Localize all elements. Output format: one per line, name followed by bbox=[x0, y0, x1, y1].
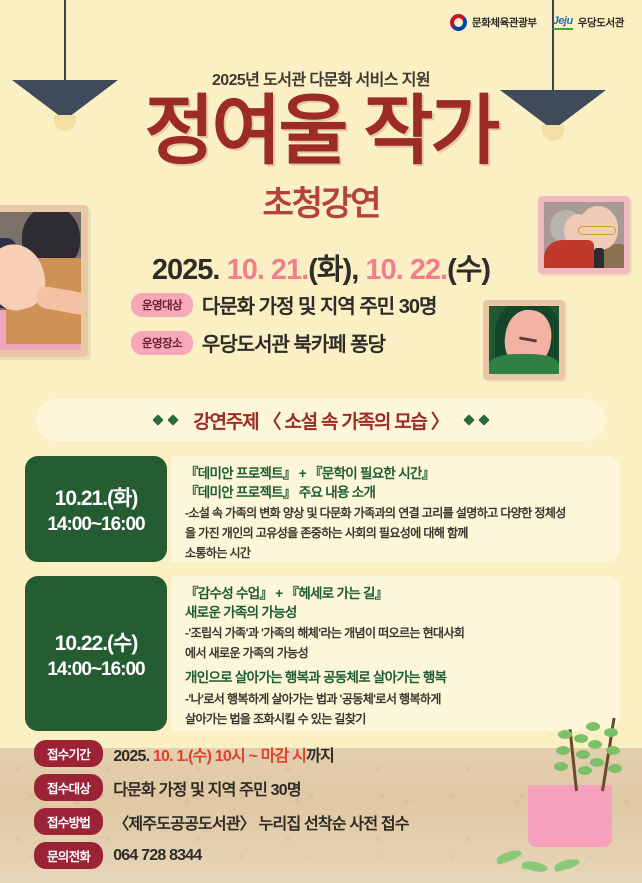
schedule-head3-day2: 개인으로 살아가는 행복과 공동체로 살아가는 행복 bbox=[185, 669, 606, 688]
schedule-head1-day2: 『감수성 수업』 + 『헤세로 가는 길』 bbox=[185, 585, 606, 604]
artwork-image bbox=[489, 306, 559, 374]
plant-pot bbox=[528, 785, 612, 847]
page-title: 정여울 작가 bbox=[0, 96, 642, 169]
taegeuk-icon bbox=[450, 14, 467, 31]
ministry-logo: 문화체육관광부 bbox=[450, 14, 537, 31]
schedule-body2-day1: 을 가진 개인의 고유성을 존중하는 사회의 필요성에 대해 함께 bbox=[185, 524, 606, 542]
badge-venue: 운영장소 bbox=[131, 331, 193, 355]
info-audience-text: 다문화 가정 및 지역 주민 30명 bbox=[202, 290, 436, 319]
schedule-time-day2: 14:00~16:00 bbox=[47, 659, 144, 681]
diamond-ornament-left-icon bbox=[154, 416, 177, 424]
footer-row-method: 접수방법 〈제주도공공도서관〉 누리집 선착순 사전 접수 bbox=[34, 808, 409, 835]
footer-phone-text: 064 728 8344 bbox=[113, 847, 201, 865]
schedule-head2-day2: 새로운 가족의 가능성 bbox=[185, 604, 606, 623]
event-dateline: 2025. 10. 21.(화), 10. 22.(수) bbox=[0, 246, 642, 288]
title-block: 2025년 도서관 다문화 서비스 지원 정여울 작가 bbox=[0, 66, 642, 169]
diamond-ornament-right-icon bbox=[465, 416, 488, 424]
library-logo: Jeju 우당도서관 bbox=[553, 15, 624, 30]
badge-application-period: 접수기간 bbox=[34, 740, 103, 767]
potted-plant-icon bbox=[484, 713, 634, 883]
info-venue-text: 우당도서관 북카페 퐁당 bbox=[202, 328, 385, 357]
schedule-row-day1: 10.21.(화) 14:00~16:00 『데미안 프로젝트』 + 『문학이 … bbox=[25, 456, 620, 562]
footer-period-text: 2025. 10. 1.(수) 10시 ~ 마감 시까지 bbox=[113, 742, 334, 766]
poster-subtitle: 초청강연 bbox=[0, 176, 642, 225]
application-info-rows: 접수기간 2025. 10. 1.(수) 10시 ~ 마감 시까지 접수대상 다… bbox=[34, 740, 409, 869]
info-row-venue: 운영장소 우당도서관 북카페 퐁당 bbox=[131, 328, 436, 357]
dateline-year: 2025. bbox=[152, 254, 220, 286]
dateline-date-2: 10. 22. bbox=[365, 254, 447, 286]
badge-application-target: 접수대상 bbox=[34, 774, 103, 801]
lecture-topic-banner: 강연주제 〈 소설 속 가족의 모습 〉 bbox=[36, 399, 606, 441]
poster-canvas: 문화체육관광부 Jeju 우당도서관 bbox=[0, 0, 642, 883]
badge-contact-phone: 문의전화 bbox=[34, 842, 103, 869]
schedule-head2-day1: 『데미안 프로젝트』 주요 내용 소개 bbox=[185, 484, 606, 503]
badge-application-method: 접수방법 bbox=[34, 808, 103, 835]
schedule-row-day2: 10.22.(수) 14:00~16:00 『감수성 수업』 + 『헤세로 가는… bbox=[25, 576, 620, 731]
footer-row-target: 접수대상 다문화 가정 및 지역 주민 30명 bbox=[34, 774, 409, 801]
info-row-audience: 운영대상 다문화 가정 및 지역 주민 30명 bbox=[131, 290, 436, 319]
organization-logo-bar: 문화체육관광부 Jeju 우당도서관 bbox=[450, 14, 624, 31]
schedule-time-day1: 14:00~16:00 bbox=[47, 514, 144, 536]
schedule-body1-day2: -'조립식 가족'과 '가족의 해체'라는 개념이 떠오르는 현대사회 bbox=[185, 624, 606, 642]
dateline-day-2: (수) bbox=[447, 254, 490, 286]
schedule-body-day2: 『감수성 수업』 + 『헤세로 가는 길』 새로운 가족의 가능성 -'조립식 … bbox=[171, 576, 620, 731]
lecture-topic-label: 강연주제 〈 소설 속 가족의 모습 〉 bbox=[193, 407, 448, 434]
artwork-portrait-woman bbox=[483, 300, 565, 380]
schedule-body3-day2: -'나'로서 행복하게 살아가는 법과 '공동체'로서 행복하게 bbox=[185, 690, 606, 708]
event-info-rows: 운영대상 다문화 가정 및 지역 주민 30명 운영장소 우당도서관 북카페 퐁… bbox=[131, 290, 436, 357]
schedule-body1-day1: -소설 속 가족의 변화 양상 및 다문화 가족과의 연결 고리를 설명하고 다… bbox=[185, 504, 606, 522]
footer-row-period: 접수기간 2025. 10. 1.(수) 10시 ~ 마감 시까지 bbox=[34, 740, 409, 767]
schedule-head1-day1: 『데미안 프로젝트』 + 『문학이 필요한 시간』 bbox=[185, 465, 606, 484]
dateline-day-1: (화), bbox=[308, 254, 358, 286]
schedule-when-day1: 10.21.(화) 14:00~16:00 bbox=[25, 456, 167, 562]
library-label: 우당도서관 bbox=[578, 15, 624, 30]
jeju-wordmark: Jeju bbox=[553, 15, 573, 30]
footer-row-phone: 문의전화 064 728 8344 bbox=[34, 842, 409, 869]
schedule-body-day1: 『데미안 프로젝트』 + 『문학이 필요한 시간』 『데미안 프로젝트』 주요 … bbox=[171, 456, 620, 562]
poster-kicker: 2025년 도서관 다문화 서비스 지원 bbox=[0, 66, 642, 90]
schedule-when-day2: 10.22.(수) 14:00~16:00 bbox=[25, 576, 167, 731]
dateline-date-1: 10. 21. bbox=[227, 254, 309, 286]
schedule-body2-day2: 에서 새로운 가족의 가능성 bbox=[185, 644, 606, 662]
schedule-date-day1: 10.21.(화) bbox=[55, 482, 138, 512]
ministry-label: 문화체육관광부 bbox=[472, 15, 537, 30]
footer-target-text: 다문화 가정 및 지역 주민 30명 bbox=[113, 776, 301, 800]
schedule-date-day2: 10.22.(수) bbox=[55, 627, 138, 657]
badge-audience: 운영대상 bbox=[131, 293, 193, 317]
schedule-body3-day1: 소통하는 시간 bbox=[185, 544, 606, 562]
footer-method-text: 〈제주도공공도서관〉 누리집 선착순 사전 접수 bbox=[113, 810, 409, 834]
